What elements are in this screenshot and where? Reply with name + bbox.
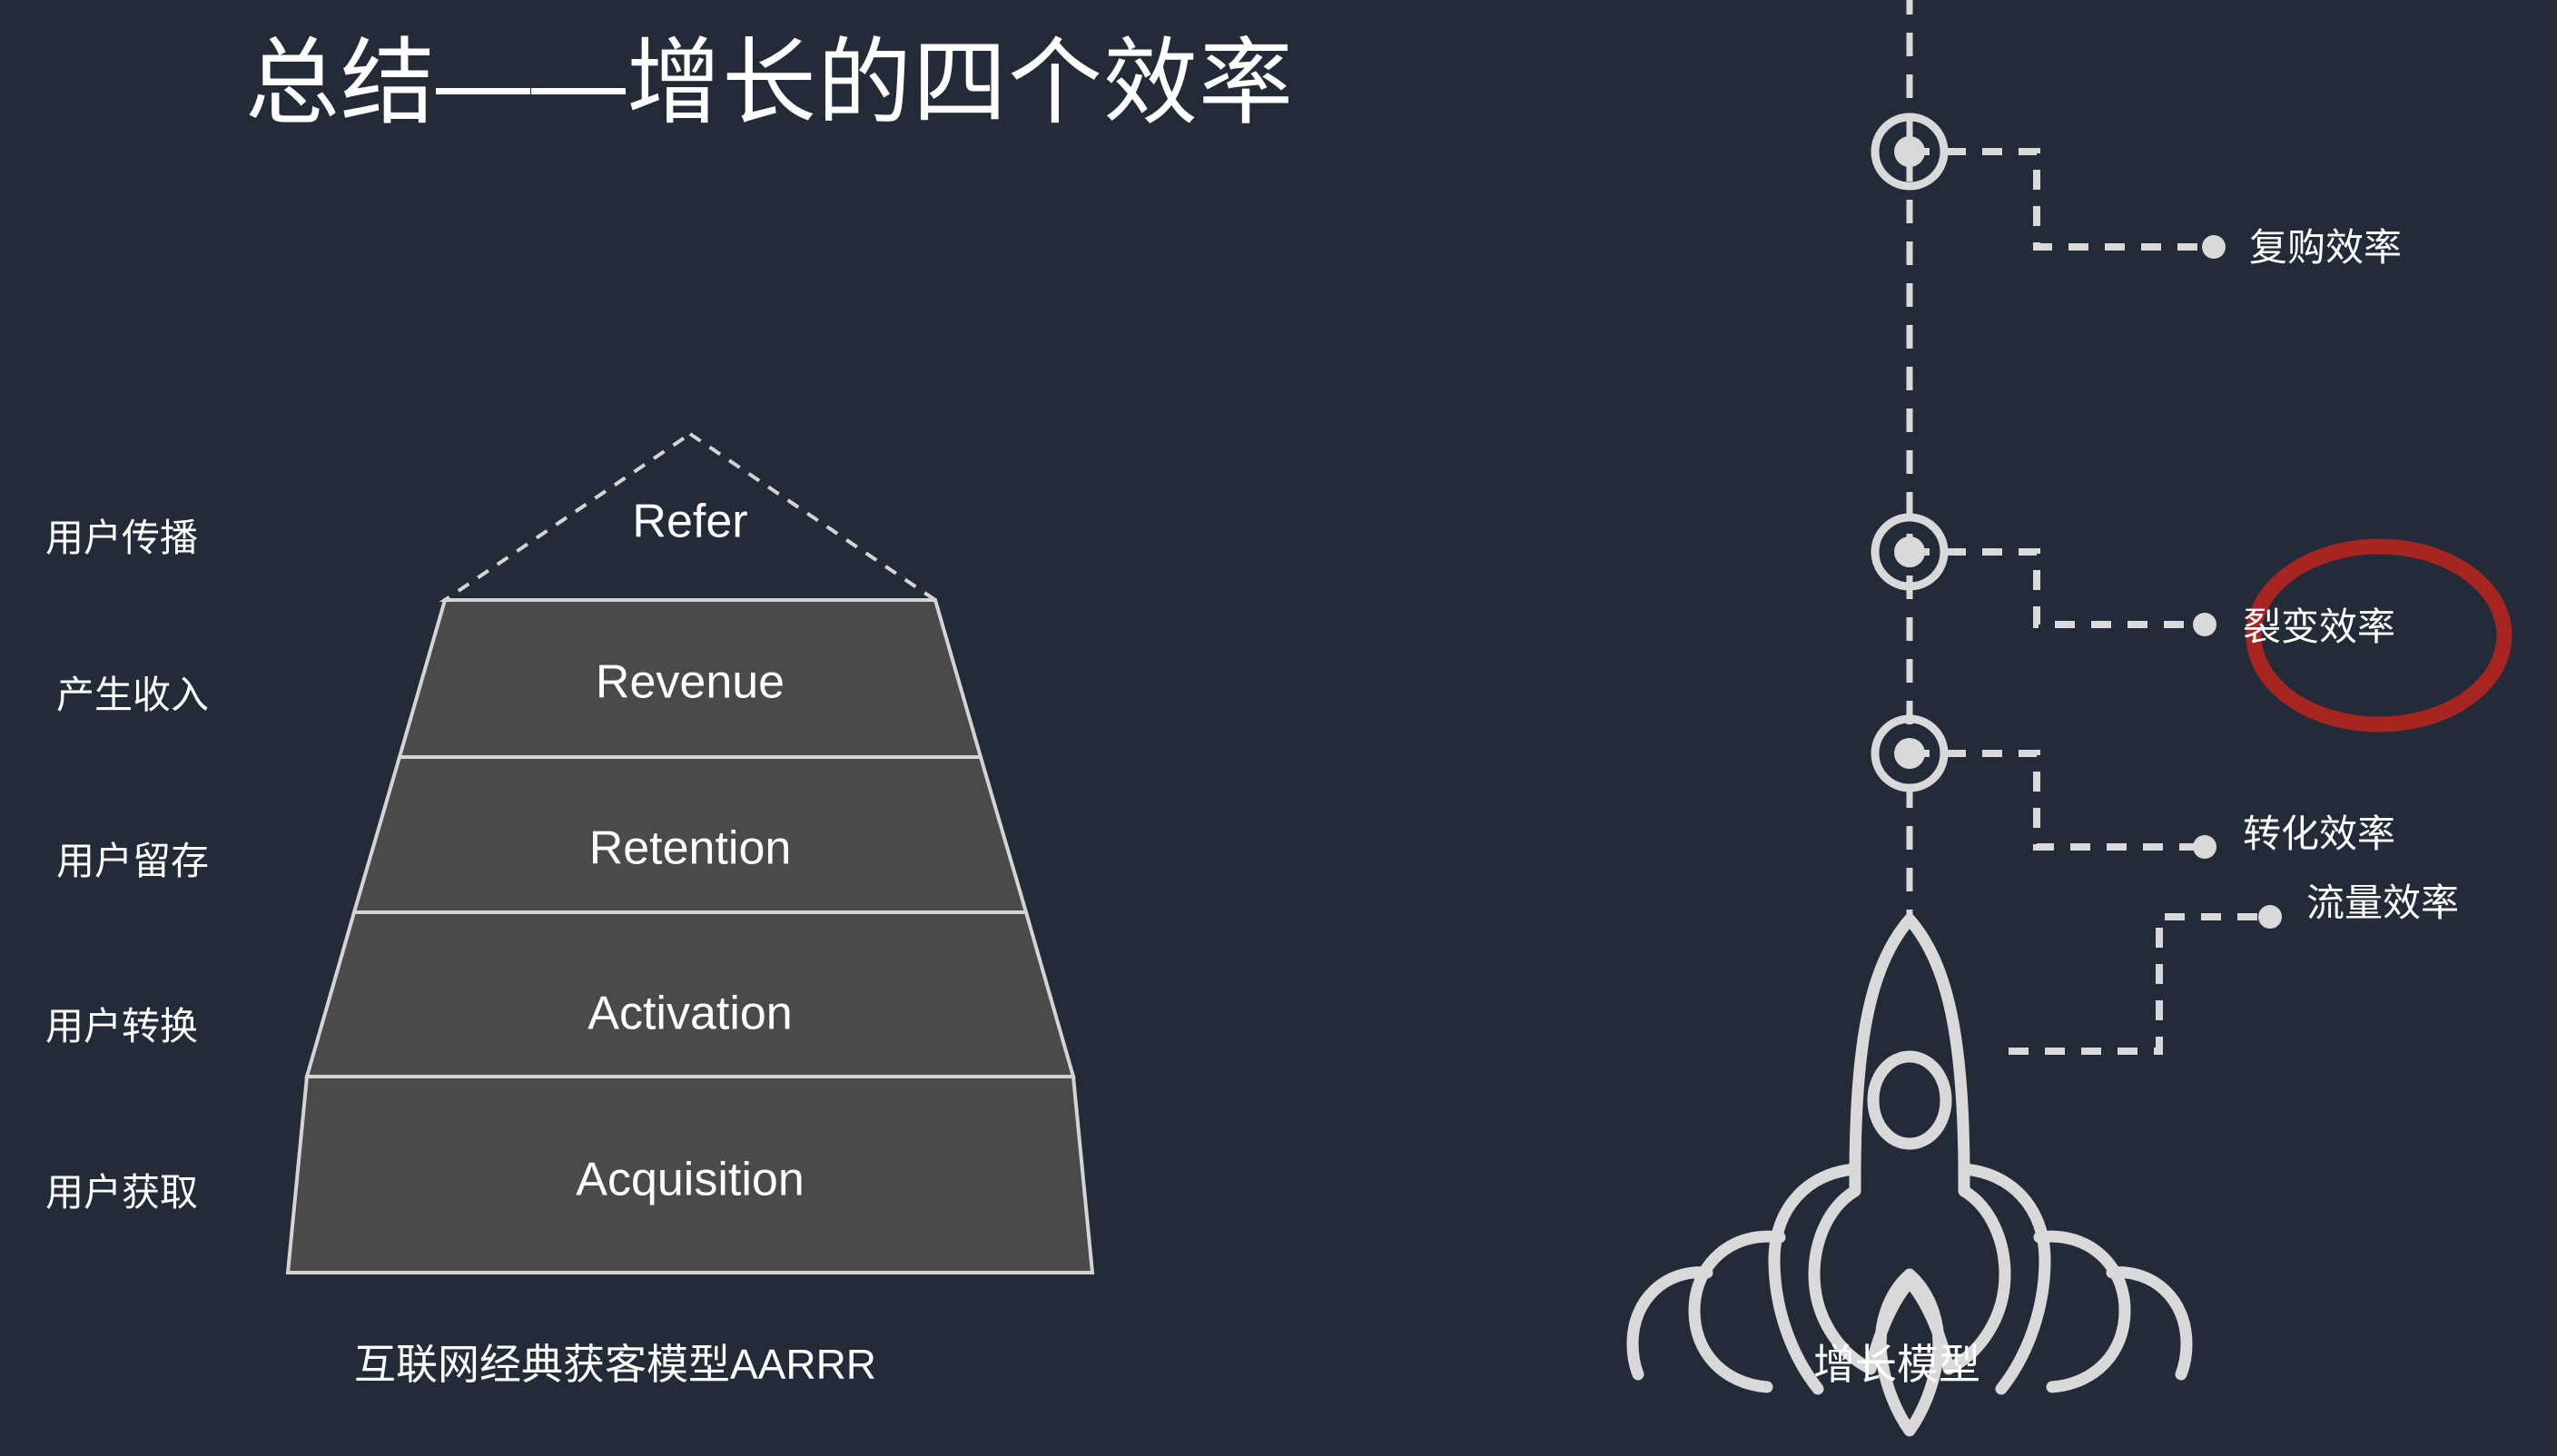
aarrr-pyramid: Refer Revenue Retention Activation Acqui… [0, 0, 2557, 1456]
pyramid-label-activation: Activation [587, 988, 792, 1040]
growth-model-diagram [0, 0, 2557, 1456]
rocket-window [1873, 1057, 1946, 1144]
connector-endpoint-3 [2193, 835, 2216, 859]
stage-label-refer: 用户传播 [45, 519, 198, 557]
node-dot-1 [1894, 136, 1925, 167]
pyramid-tier-retention [354, 757, 1026, 912]
efficiency-label-repurchase: 复购效率 [2249, 229, 2402, 267]
connector-1 [1910, 152, 2208, 247]
node-dot-2 [1894, 536, 1925, 567]
node-ring-1 [1875, 117, 1944, 186]
stage-label-acquisition: 用户获取 [45, 1174, 198, 1212]
stage-label-revenue: 产生收入 [56, 676, 209, 714]
connector-endpoint-1 [2202, 235, 2226, 259]
connector-endpoint-4 [2258, 905, 2282, 929]
efficiency-label-traffic: 流量效率 [2306, 884, 2459, 922]
slide-canvas: 总结——增长的四个效率 用户传播 产生收入 用户留存 用户转换 用户获取 Ref… [0, 0, 2557, 1456]
stage-label-retention: 用户留存 [56, 842, 209, 880]
pyramid-label-acquisition: Acquisition [576, 1154, 804, 1206]
connector-3 [1910, 753, 2199, 847]
pyramid-label-retention: Retention [589, 822, 792, 875]
stage-label-activation: 用户转换 [45, 1008, 198, 1046]
cloud-inner-left [1694, 1236, 1780, 1387]
node-dot-3 [1894, 738, 1925, 769]
connector-4 [2009, 917, 2264, 1051]
pyramid-tier-refer [445, 434, 935, 600]
node-ring-3 [1875, 719, 1944, 788]
cloud-outer-left [1633, 1273, 1707, 1374]
pyramid-tier-acquisition [288, 1077, 1092, 1273]
pyramid-tier-revenue [400, 600, 981, 757]
caption-aarrr-model: 互联网经典获客模型AARRR [354, 1343, 876, 1385]
pyramid-tier-activation [307, 912, 1073, 1077]
page-title: 总结——增长的四个效率 [245, 27, 1294, 141]
pyramid-label-refer: Refer [632, 496, 747, 548]
efficiency-label-fission: 裂变效率 [2243, 608, 2395, 646]
pyramid-label-revenue: Revenue [596, 656, 785, 709]
connector-2 [1910, 552, 2199, 625]
efficiency-label-conversion: 转化效率 [2243, 815, 2395, 853]
cloud-outer-right [2112, 1273, 2187, 1374]
rocket-body [1814, 920, 2005, 1369]
cloud-inner-right [2039, 1236, 2125, 1387]
connector-endpoint-2 [2193, 613, 2216, 636]
caption-growth-model: 增长模型 [1813, 1343, 1980, 1385]
node-ring-2 [1875, 517, 1944, 586]
